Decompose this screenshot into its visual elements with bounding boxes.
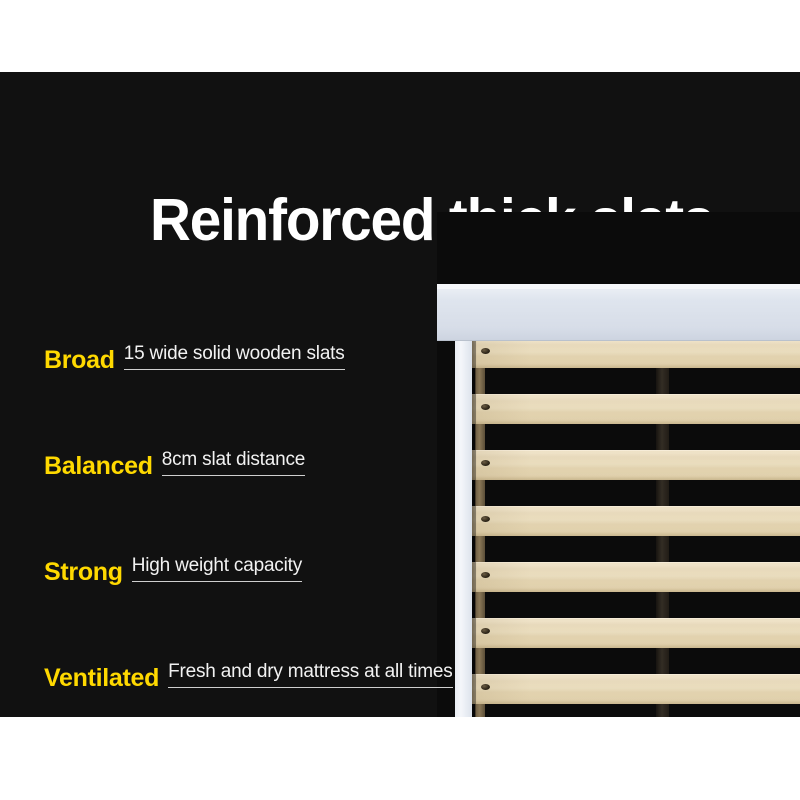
slat-screw — [481, 516, 490, 522]
wooden-slat — [472, 394, 800, 424]
feature-item: StrongHigh weight capacity — [44, 556, 464, 662]
slat-group — [472, 340, 800, 717]
wooden-slat — [472, 450, 800, 480]
product-feature-poster: Reinforced thick slats Broad15 wide soli… — [0, 0, 800, 800]
feature-item: Broad15 wide solid wooden slats — [44, 344, 464, 450]
side-rail-shadow — [472, 340, 476, 717]
wooden-slat — [472, 674, 800, 704]
wooden-slat — [472, 506, 800, 536]
wooden-slat — [472, 562, 800, 592]
feature-description: High weight capacity — [132, 556, 302, 582]
top-rail-highlight — [437, 284, 800, 289]
slat-screw — [481, 684, 490, 690]
feature-list: Broad15 wide solid wooden slatsBalanced8… — [44, 344, 464, 717]
feature-description: Fresh and dry mattress at all times — [168, 662, 452, 688]
white-bed-frame-side-rail — [455, 340, 472, 717]
wooden-slat — [472, 618, 800, 648]
black-feature-panel: Reinforced thick slats Broad15 wide soli… — [0, 72, 800, 717]
slat-screw — [481, 628, 490, 634]
feature-term: Strong — [44, 556, 123, 585]
slat-screw — [481, 404, 490, 410]
feature-item: Balanced8cm slat distance — [44, 450, 464, 556]
feature-term: Ventilated — [44, 662, 159, 691]
wooden-slat — [472, 338, 800, 368]
feature-description: 15 wide solid wooden slats — [124, 344, 345, 370]
slat-screw — [481, 460, 490, 466]
feature-description: 8cm slat distance — [162, 450, 305, 476]
feature-term: Balanced — [44, 450, 153, 479]
white-bed-frame-top-rail — [437, 284, 800, 340]
slat-screw — [481, 348, 490, 354]
bed-slat-base-photo — [437, 212, 800, 717]
feature-term: Broad — [44, 344, 115, 373]
slat-screw — [481, 572, 490, 578]
feature-item: VentilatedFresh and dry mattress at all … — [44, 662, 464, 717]
